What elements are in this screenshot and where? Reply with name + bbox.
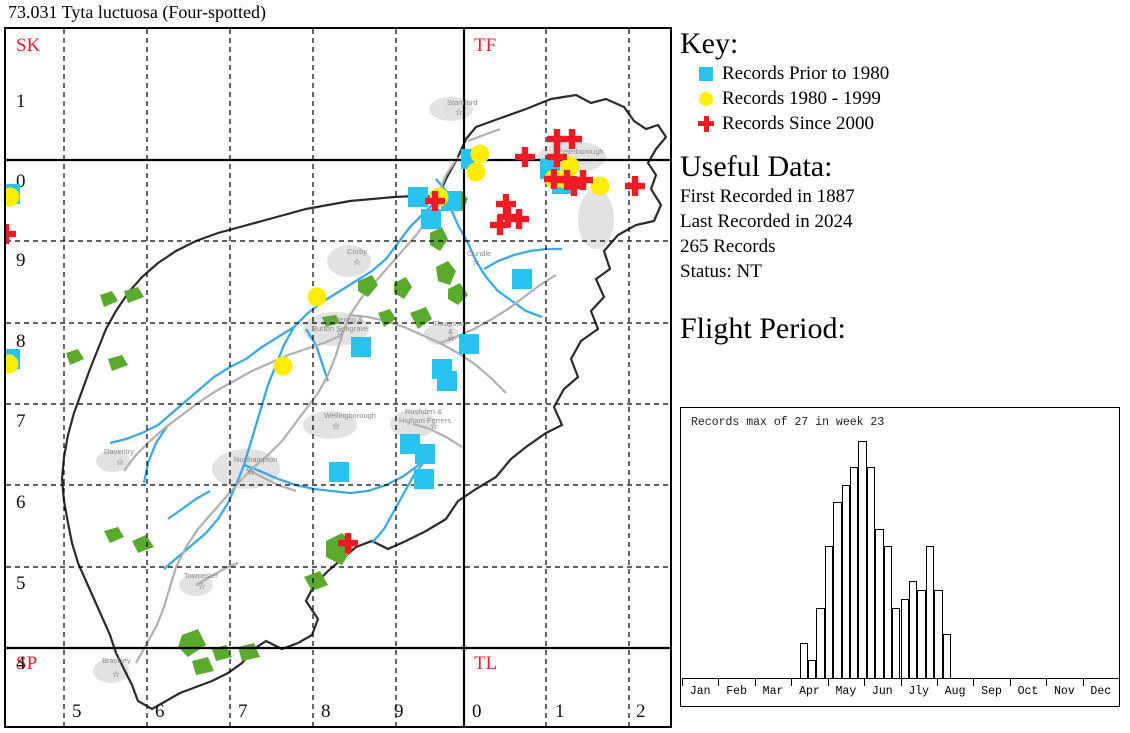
circle-marker-icon [690,92,722,106]
grid-col-label: 8 [321,701,331,722]
key-item-label: Records Since 2000 [722,113,874,135]
svg-text:☆: ☆ [472,258,480,268]
key-item-prior-1980: Records Prior to 1980 [690,61,1126,86]
month-label: Aug [937,685,973,698]
key-item-label: Records 1980 - 1999 [722,88,881,110]
grid-row-label: 9 [16,250,26,271]
distribution-map-panel: SKTFSPTL 10987654 56789012 StamfordPeter… [4,27,672,728]
distribution-map: SKTFSPTL 10987654 56789012 StamfordPeter… [6,29,670,726]
histogram-bar [892,608,900,678]
histogram-bar [943,634,951,678]
month-label: Dec [1083,685,1119,698]
records-count-line: 265 Records [680,234,1126,259]
record-marker-square [421,209,441,229]
key-item-label: Records Prior to 1980 [722,63,889,85]
histogram-bar [825,546,833,678]
month-label: Mar [755,685,791,698]
histogram-bar [867,467,875,678]
histogram-bar [833,502,841,678]
grid-col-label: 6 [155,701,165,722]
month-label: Jan [682,685,718,698]
record-marker-circle [471,145,490,164]
place-label: Oundle [467,249,491,258]
svg-text:☆: ☆ [336,328,344,338]
grid-row-labels: 10987654 [16,91,26,674]
month-label: Jly [901,685,937,698]
svg-text:☆: ☆ [198,582,206,592]
grid-letters: SKTFSPTL [16,35,497,674]
record-marker-circle [591,177,610,196]
record-marker-circle [308,288,327,307]
histogram-bar [858,441,866,678]
month-label: Oct [1010,685,1046,698]
month-label: Sep [974,685,1010,698]
histogram-bar [909,581,917,678]
place-label: Rushden & [405,407,442,416]
place-label: Towcester [184,571,218,580]
grid-col-label: 7 [238,701,248,722]
histogram-bar [816,608,824,678]
grid-col-label: 1 [555,701,565,722]
flight-period-note: Records max of 27 in week 23 [691,416,884,429]
cross-marker-icon [690,116,722,132]
grid-row-label: 4 [16,653,26,674]
key-item-1980-1999: Records 1980 - 1999 [690,86,1126,111]
rivers [110,179,562,569]
record-marker-cross [625,176,645,196]
key-heading: Key: [680,27,1126,61]
right-column: Key: Records Prior to 1980 Records 1980 … [680,27,1126,728]
key-item-since-2000: Records Since 2000 [690,111,1126,136]
flight-period-heading: Flight Period: [680,312,1126,346]
grid-row-label: 5 [16,573,26,594]
urban-areas [93,97,614,683]
place-labels: StamfordPeterboroughCorbyOundleKettering… [102,98,603,665]
record-marker-cross [509,209,529,229]
svg-text:☆: ☆ [353,258,361,268]
histogram-bar [808,660,816,678]
record-marker-circle [467,163,486,182]
record-marker-square [329,462,349,482]
status-line: Status: NT [680,259,1126,284]
place-label: Stamford [447,98,477,107]
grid-row-label: 6 [16,492,26,513]
grid-row-label: 8 [16,331,26,352]
record-marker-square [512,269,532,289]
grid-row-label: 7 [16,411,26,432]
month-label: Feb [719,685,755,698]
histogram-bar [917,590,925,678]
histogram-bar [842,485,850,678]
svg-text:☆: ☆ [112,670,120,680]
month-label: Jun [864,685,900,698]
record-marker-circle [274,357,293,376]
grid-row-label: 1 [16,91,26,112]
month-label: Nov [1046,685,1082,698]
record-marker-cross [6,224,16,244]
histogram-bar [875,529,883,678]
record-marker-square [414,469,434,489]
grid-col-label: 9 [394,701,404,722]
svg-text:☆: ☆ [116,458,124,468]
svg-text:☆: ☆ [455,108,463,118]
grid-letter: TL [474,653,497,674]
record-marker-cross [515,147,535,167]
histogram-month-axis: JanFebMarAprMayJunJlyAugSepOctNovDec [682,678,1119,707]
svg-text:☆: ☆ [247,468,255,478]
square-marker-icon [690,67,722,81]
histogram-plot-area [682,433,1119,678]
histogram-bar [884,546,892,678]
histogram-bar [926,546,934,678]
flight-period-chart: Records max of 27 in week 23 JanFebMarAp… [680,407,1120,707]
place-label: Brackley [102,656,131,665]
grid-letter: SK [16,35,41,56]
svg-text:☆: ☆ [332,422,340,432]
record-marker-square [351,337,371,357]
record-marker-square [459,334,479,354]
month-label: Apr [791,685,827,698]
grid-col-label: 5 [72,701,82,722]
place-label: Corby [347,247,367,256]
svg-text:☆: ☆ [430,422,438,432]
place-label: Kettering & [326,315,363,324]
record-marker-square [415,444,435,464]
useful-data-heading: Useful Data: [680,150,1126,184]
grid-col-label: 0 [472,701,482,722]
place-label: Northampton [234,455,277,464]
last-recorded-line: Last Recorded in 2024 [680,209,1126,234]
page-title: 73.031 Tyta luctuosa (Four-spotted) [8,2,266,22]
grid-col-label: 2 [636,701,646,722]
grid-letter: TF [474,35,496,56]
grid-col-labels: 56789012 [72,701,646,722]
record-marker-square [437,371,457,391]
place-label: Daventry [104,447,134,456]
histogram-bar [901,599,909,678]
place-label: Wellingborough [324,411,376,420]
histogram-bar [800,643,808,678]
histogram-bar [850,467,858,678]
month-label: May [828,685,864,698]
place-label: Higham Ferrers [399,416,451,425]
town-markers: ☆ ☆ ☆ ☆ ☆ ☆ ☆ ☆ ☆ ☆ ☆ ☆ [112,108,580,680]
histogram-bar [934,590,942,678]
svg-text:☆: ☆ [447,334,455,344]
first-recorded-line: First Recorded in 1887 [680,184,1126,209]
